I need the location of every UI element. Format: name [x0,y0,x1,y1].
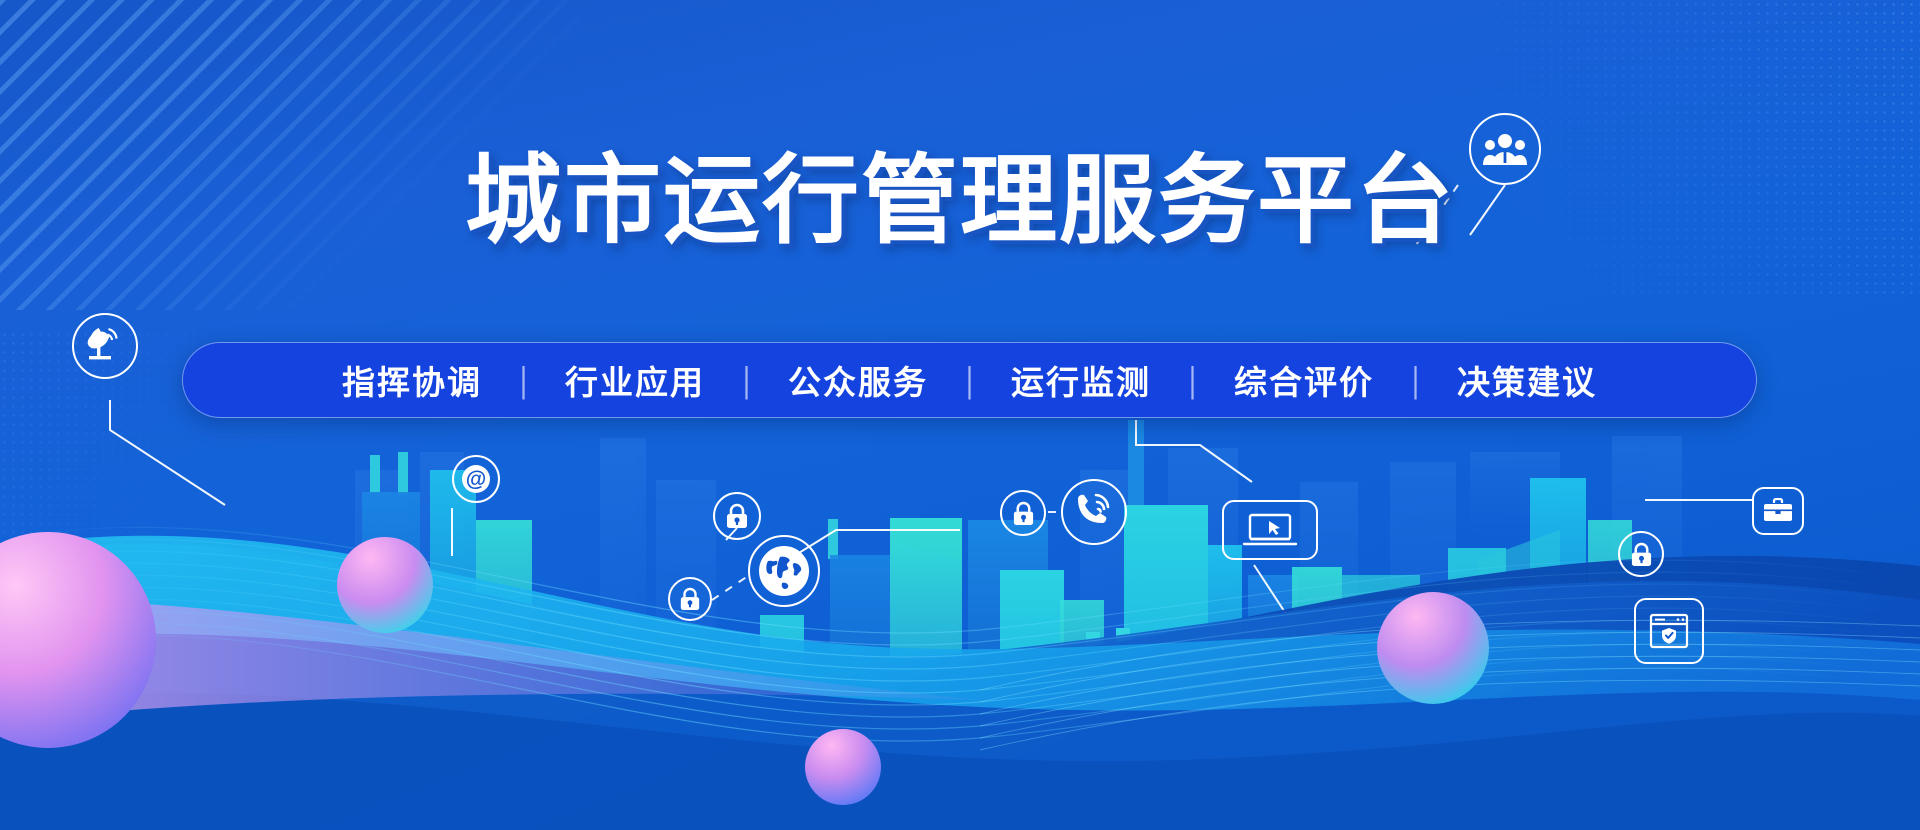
lock-icon-2 [668,577,712,621]
nav-item-command-coordination[interactable]: 指挥协调 [308,356,516,404]
sphere-right [1377,592,1489,704]
svg-text:@: @ [466,468,486,491]
nav-item-operation-monitoring[interactable]: 运行监测 [977,356,1185,404]
nav-separator: | [1408,359,1423,401]
phone-call-icon [1061,479,1127,545]
briefcase-icon [1752,487,1804,535]
city-operations-banner: 城市运行管理服务平台 指挥协调 | 行业应用 | 公众服务 | 运行监测 | 综… [0,0,1920,830]
at-sign-icon: @ [452,455,500,503]
sphere-center [805,729,881,805]
lock-icon-4 [1618,531,1664,577]
nav-item-comprehensive-evaluation[interactable]: 综合评价 [1200,356,1408,404]
satellite-dish-icon [72,313,138,379]
banner-title-wrapper: 城市运行管理服务平台 [0,150,1920,252]
nav-item-industry-application[interactable]: 行业应用 [531,356,739,404]
primary-nav: 指挥协调 | 行业应用 | 公众服务 | 运行监测 | 综合评价 | 决策建议 [182,342,1757,418]
nav-separator: | [1185,359,1200,401]
page-title: 城市运行管理服务平台 [465,150,1455,252]
nav-item-decision-suggestion[interactable]: 决策建议 [1423,356,1631,404]
laptop-cursor-icon [1222,500,1318,560]
nav-separator: | [516,359,531,401]
nav-separator: | [739,359,754,401]
nav-item-public-service[interactable]: 公众服务 [754,356,962,404]
lock-icon-1 [713,492,761,540]
globe-icon [748,535,820,607]
lock-icon-3 [1000,490,1046,536]
browser-shield-icon [1634,598,1704,664]
nav-separator: | [962,359,977,401]
sphere-mid [337,537,433,633]
